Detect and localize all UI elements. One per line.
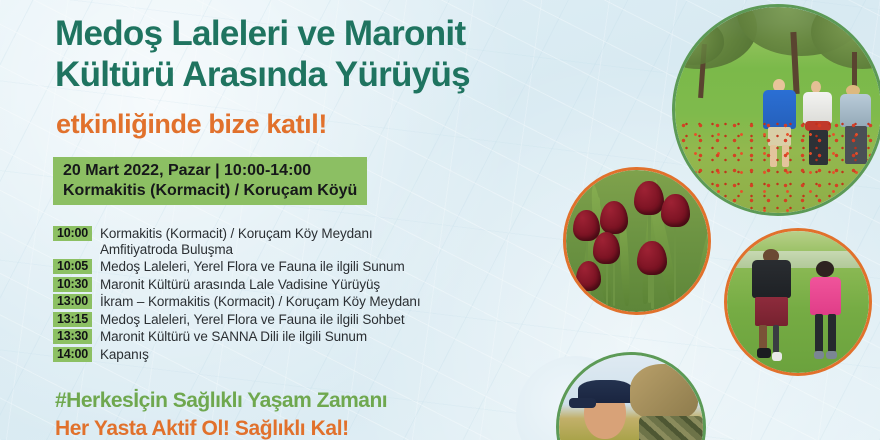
- schedule-row: 10:05Medoş Laleleri, Yerel Flora ve Faun…: [53, 259, 613, 275]
- event-poster: Medoş Laleleri ve Maronit Kültürü Arasın…: [0, 0, 880, 440]
- location-line: Kormakitis (Kormacit) / Koruçam Köyü: [63, 181, 357, 201]
- date-location-box: 20 Mart 2022, Pazar | 10:00-14:00 Kormak…: [53, 157, 367, 205]
- schedule-description: Medoş Laleleri, Yerel Flora ve Fauna ile…: [100, 259, 613, 275]
- schedule-time-badge: 13:00: [53, 294, 92, 309]
- schedule-description: Kapanış: [100, 347, 613, 363]
- schedule-time-badge: 13:15: [53, 312, 92, 327]
- schedule-list: 10:00Kormakitis (Kormacit) / Koruçam Köy…: [53, 226, 613, 364]
- tagline: Her Yasta Aktif Ol! Sağlıklı Kal!: [55, 417, 349, 440]
- schedule-row: 13:00İkram – Kormakitis (Kormacit) / Kor…: [53, 294, 613, 310]
- schedule-row: 13:15Medoş Laleleri, Yerel Flora ve Faun…: [53, 312, 613, 328]
- schedule-description-text: Medoş Laleleri, Yerel Flora ve Fauna ile…: [100, 312, 405, 327]
- schedule-description-continued: Amfitiyatroda Buluşma: [100, 242, 613, 258]
- schedule-row: 10:00Kormakitis (Kormacit) / Koruçam Köy…: [53, 226, 613, 257]
- schedule-description-text: Kapanış: [100, 347, 149, 362]
- photo-man-with-prosthetic-and-girl: [724, 228, 872, 376]
- schedule-time-badge: 13:30: [53, 329, 92, 344]
- schedule-row: 10:30Maronit Kültürü arasında Lale Vadis…: [53, 277, 613, 293]
- schedule-row: 14:00Kapanış: [53, 347, 613, 363]
- schedule-time-badge: 10:30: [53, 277, 92, 292]
- poster-text-column: Medoş Laleleri ve Maronit Kültürü Arasın…: [0, 0, 660, 440]
- schedule-description: Kormakitis (Kormacit) / Koruçam Köy Meyd…: [100, 226, 613, 257]
- schedule-description-text: Maronit Kültürü ve SANNA Dili ile ilgili…: [100, 329, 367, 344]
- schedule-time-badge: 10:00: [53, 226, 92, 241]
- schedule-time-badge: 14:00: [53, 347, 92, 362]
- schedule-time-badge: 10:05: [53, 259, 92, 274]
- schedule-description-text: Medoş Laleleri, Yerel Flora ve Fauna ile…: [100, 259, 405, 274]
- schedule-description: Medoş Laleleri, Yerel Flora ve Fauna ile…: [100, 312, 613, 328]
- photo-hikers-in-tulip-meadow: [672, 4, 880, 216]
- subtitle: etkinliğinde bize katıl!: [56, 109, 327, 140]
- schedule-description-text: Kormakitis (Kormacit) / Koruçam Köy Meyd…: [100, 226, 373, 241]
- date-line: 20 Mart 2022, Pazar | 10:00-14:00: [63, 161, 357, 181]
- schedule-description-text: Maronit Kültürü arasında Lale Vadisine Y…: [100, 277, 380, 292]
- schedule-description-text: İkram – Kormakitis (Kormacit) / Koruçam …: [100, 294, 421, 309]
- page-title: Medoş Laleleri ve Maronit Kültürü Arasın…: [55, 14, 655, 95]
- schedule-description: Maronit Kültürü ve SANNA Dili ile ilgili…: [100, 329, 613, 345]
- schedule-row: 13:30Maronit Kültürü ve SANNA Dili ile i…: [53, 329, 613, 345]
- schedule-description: İkram – Kormakitis (Kormacit) / Koruçam …: [100, 294, 613, 310]
- schedule-description: Maronit Kültürü arasında Lale Vadisine Y…: [100, 277, 613, 293]
- hashtag: #Herkesİçin Sağlıklı Yaşam Zamanı: [55, 389, 387, 413]
